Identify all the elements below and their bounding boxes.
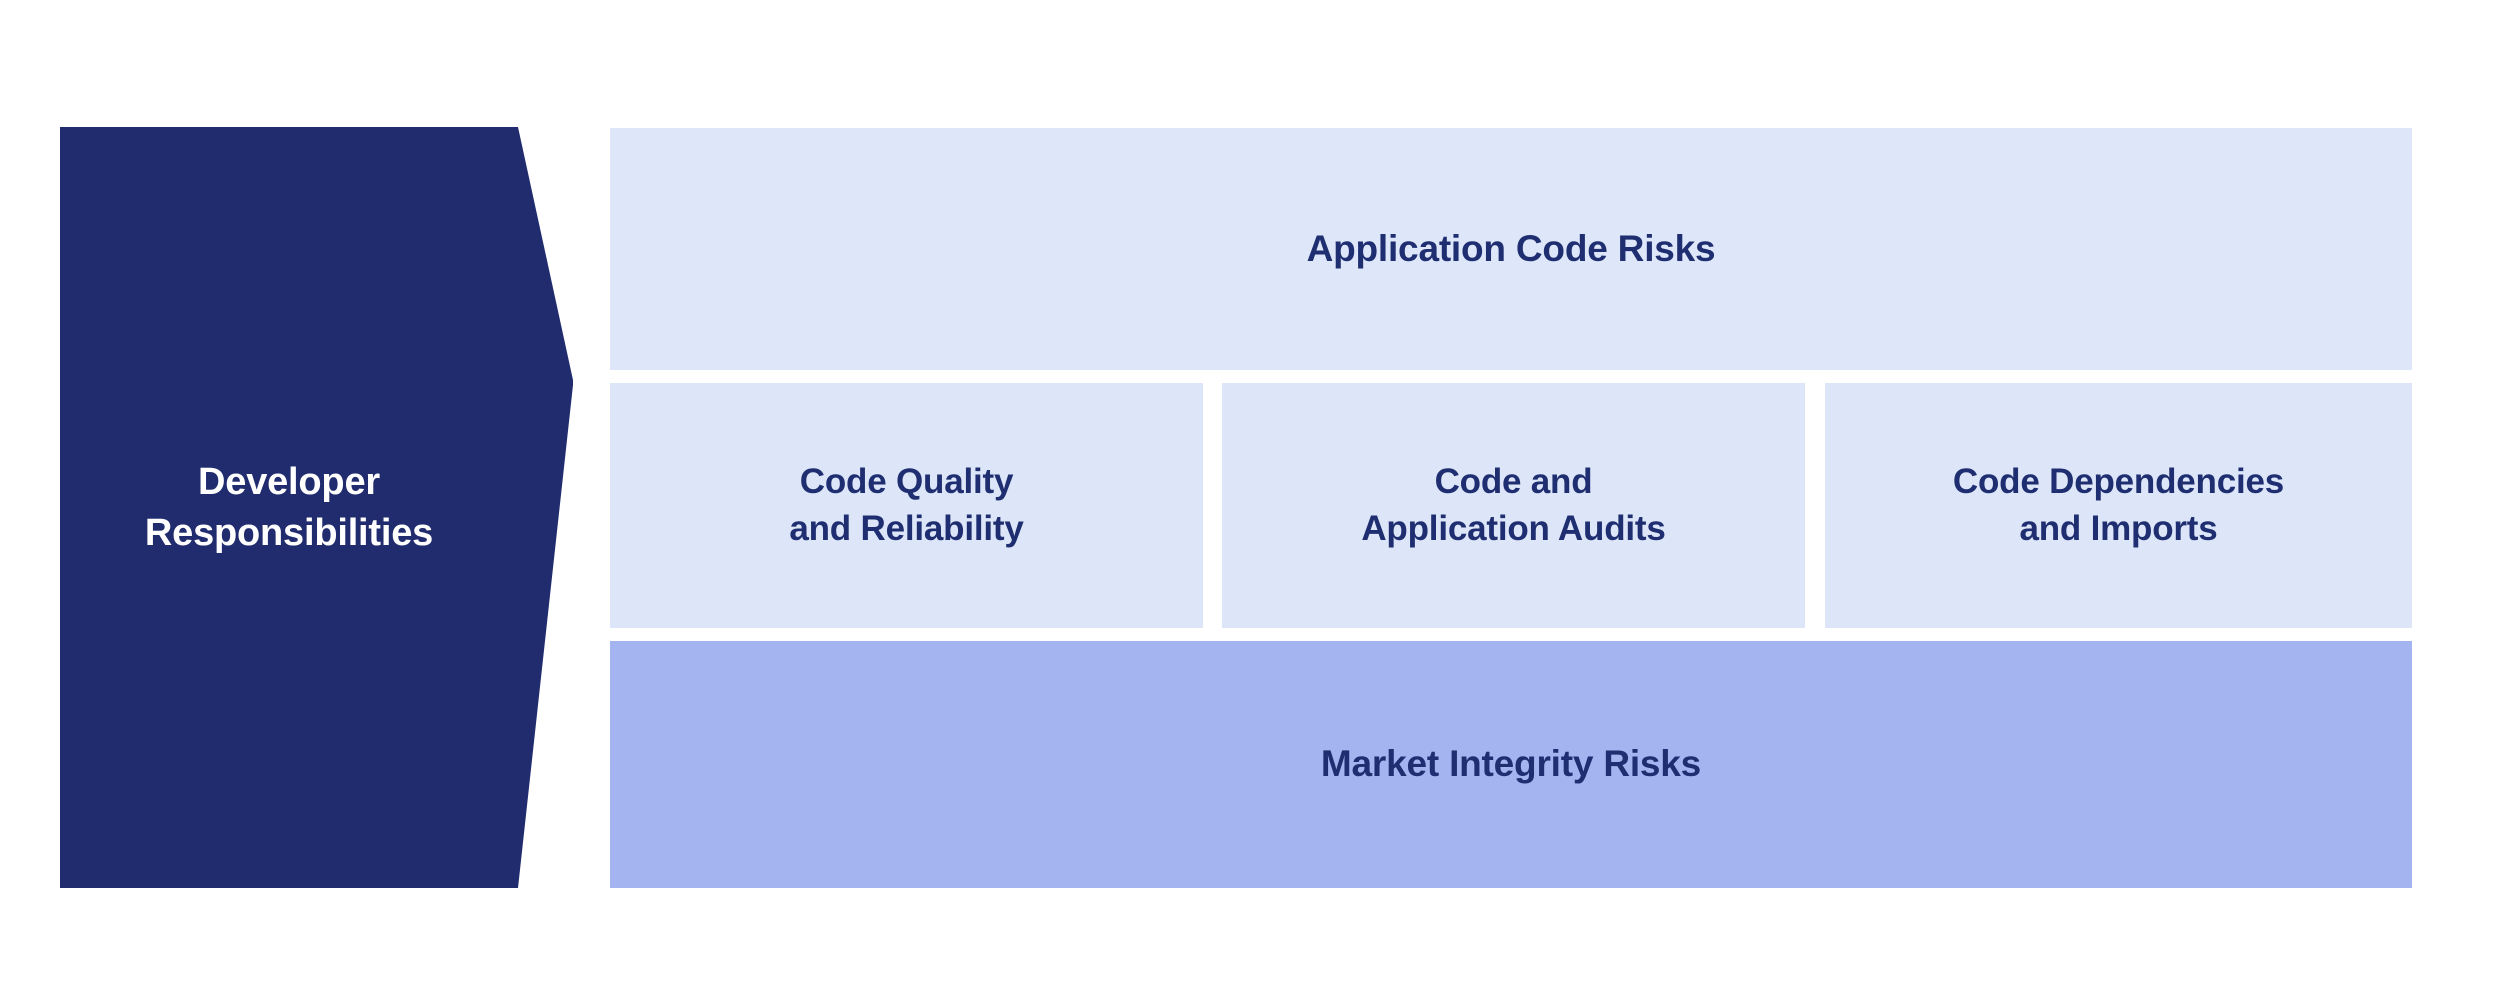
diagram-canvas: Developer Responsibilities Application C…	[0, 0, 2500, 996]
cell-code-dependencies-and-imports-label: Code Dependencies and Imports	[1953, 459, 2284, 551]
developer-responsibilities-panel[interactable]: Developer Responsibilities	[60, 127, 573, 888]
cell-code-quality-and-reliability[interactable]: Code Quality and Reliability	[610, 383, 1203, 628]
cell-code-and-application-audits[interactable]: Code and Application Audits	[1222, 383, 1805, 628]
band-application-code-risks-label: Application Code Risks	[1307, 225, 1716, 274]
band-market-integrity-risks[interactable]: Market Integrity Risks	[610, 641, 2412, 888]
band-middle-subcategories: Code Quality and Reliability Code and Ap…	[610, 383, 2412, 628]
band-market-integrity-risks-label: Market Integrity Risks	[1321, 740, 1701, 789]
band-application-code-risks[interactable]: Application Code Risks	[610, 128, 2412, 370]
cell-code-quality-and-reliability-label: Code Quality and Reliability	[789, 459, 1023, 551]
chevron-shape-icon	[60, 127, 573, 888]
cell-code-and-application-audits-label: Code and Application Audits	[1361, 459, 1665, 551]
risk-bands-stack: Application Code Risks Code Quality and …	[610, 128, 2412, 888]
cell-code-dependencies-and-imports[interactable]: Code Dependencies and Imports	[1825, 383, 2412, 628]
